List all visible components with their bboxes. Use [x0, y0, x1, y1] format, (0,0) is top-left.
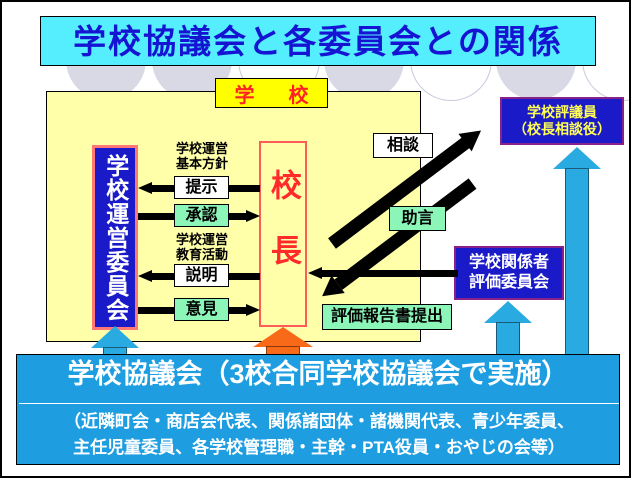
note-school-management-education-activity: 学校運営 教育活動 — [170, 233, 234, 262]
arrowhead-right-icon — [246, 304, 260, 316]
cyan-arrow-stem — [565, 168, 589, 355]
cyan-arrowhead-up-icon — [553, 147, 601, 169]
box-stakeholder-evaluation-committee[interactable]: 学校関係者 評価委員会 — [454, 246, 564, 300]
council-members-line1: （近隣町会・商店会代表、関係諸団体・諸機関代表、青少年委員、 — [23, 409, 615, 435]
school-council-members: （近隣町会・商店会代表、関係諸団体・諸機関代表、青少年委員、 主任児童委員、各学… — [23, 409, 615, 462]
label-opinion: 意見 — [174, 298, 229, 321]
cyan-arrow-stem — [496, 322, 520, 355]
cyan-arrowhead-up-icon — [484, 301, 532, 323]
label-consultation: 相談 — [373, 133, 433, 158]
box-school-councillor[interactable]: 学校評議員 （校長相談役） — [500, 97, 624, 145]
council-divider — [19, 403, 619, 404]
school-council-band[interactable]: 学校協議会（3校合同学校協議会で実施） （近隣町会・商店会代表、関係諸団体・諸機… — [16, 354, 620, 465]
note-education-activity-line1: 学校運営 — [170, 233, 234, 248]
diagram-canvas: 学校協議会と各委員会との関係 学 校 学校運営委員会 校長 学校評議員 （校長相… — [0, 0, 631, 478]
page-title: 学校協議会と各委員会との関係 — [73, 25, 563, 58]
box-school-councillor-line1: 学校評議員 — [527, 104, 597, 122]
label-approval: 承認 — [174, 204, 229, 227]
note-education-activity-line2: 教育活動 — [170, 248, 234, 263]
diagram-title-bar: 学校協議会と各委員会との関係 — [40, 16, 596, 66]
box-school-management-committee[interactable]: 学校運営委員会 — [92, 145, 138, 330]
box-stakeholder-evaluation-committee-line2: 評価委員会 — [469, 273, 549, 293]
box-principal-label: 校長 — [267, 169, 299, 299]
note-school-management-policy: 学校運営 基本方針 — [170, 142, 234, 171]
box-school-management-committee-label: 学校運営委員会 — [103, 154, 126, 322]
box-stakeholder-evaluation-committee-line1: 学校関係者 — [469, 253, 549, 273]
cyan-arrowhead-up-icon — [91, 326, 139, 348]
note-school-management-policy-line2: 基本方針 — [170, 157, 234, 172]
box-principal[interactable]: 校長 — [259, 141, 307, 327]
box-school-councillor-line2: （校長相談役） — [513, 121, 611, 139]
label-explanation: 説明 — [174, 264, 229, 287]
council-members-line2: 主任児童委員、各学校管理職・主幹・PTA役員・おやじの会等） — [23, 435, 615, 461]
label-advice: 助言 — [389, 206, 446, 231]
note-school-management-policy-line1: 学校運営 — [170, 142, 234, 157]
label-presentation: 提示 — [174, 176, 229, 199]
arrowhead-right-icon — [246, 210, 260, 222]
orange-arrowhead-up-icon — [253, 327, 313, 347]
label-evaluation-report-submission: 評価報告書提出 — [322, 304, 452, 330]
school-council-title: 学校協議会（3校合同学校協議会で実施） — [17, 359, 619, 390]
school-header-label: 学 校 — [215, 78, 328, 108]
